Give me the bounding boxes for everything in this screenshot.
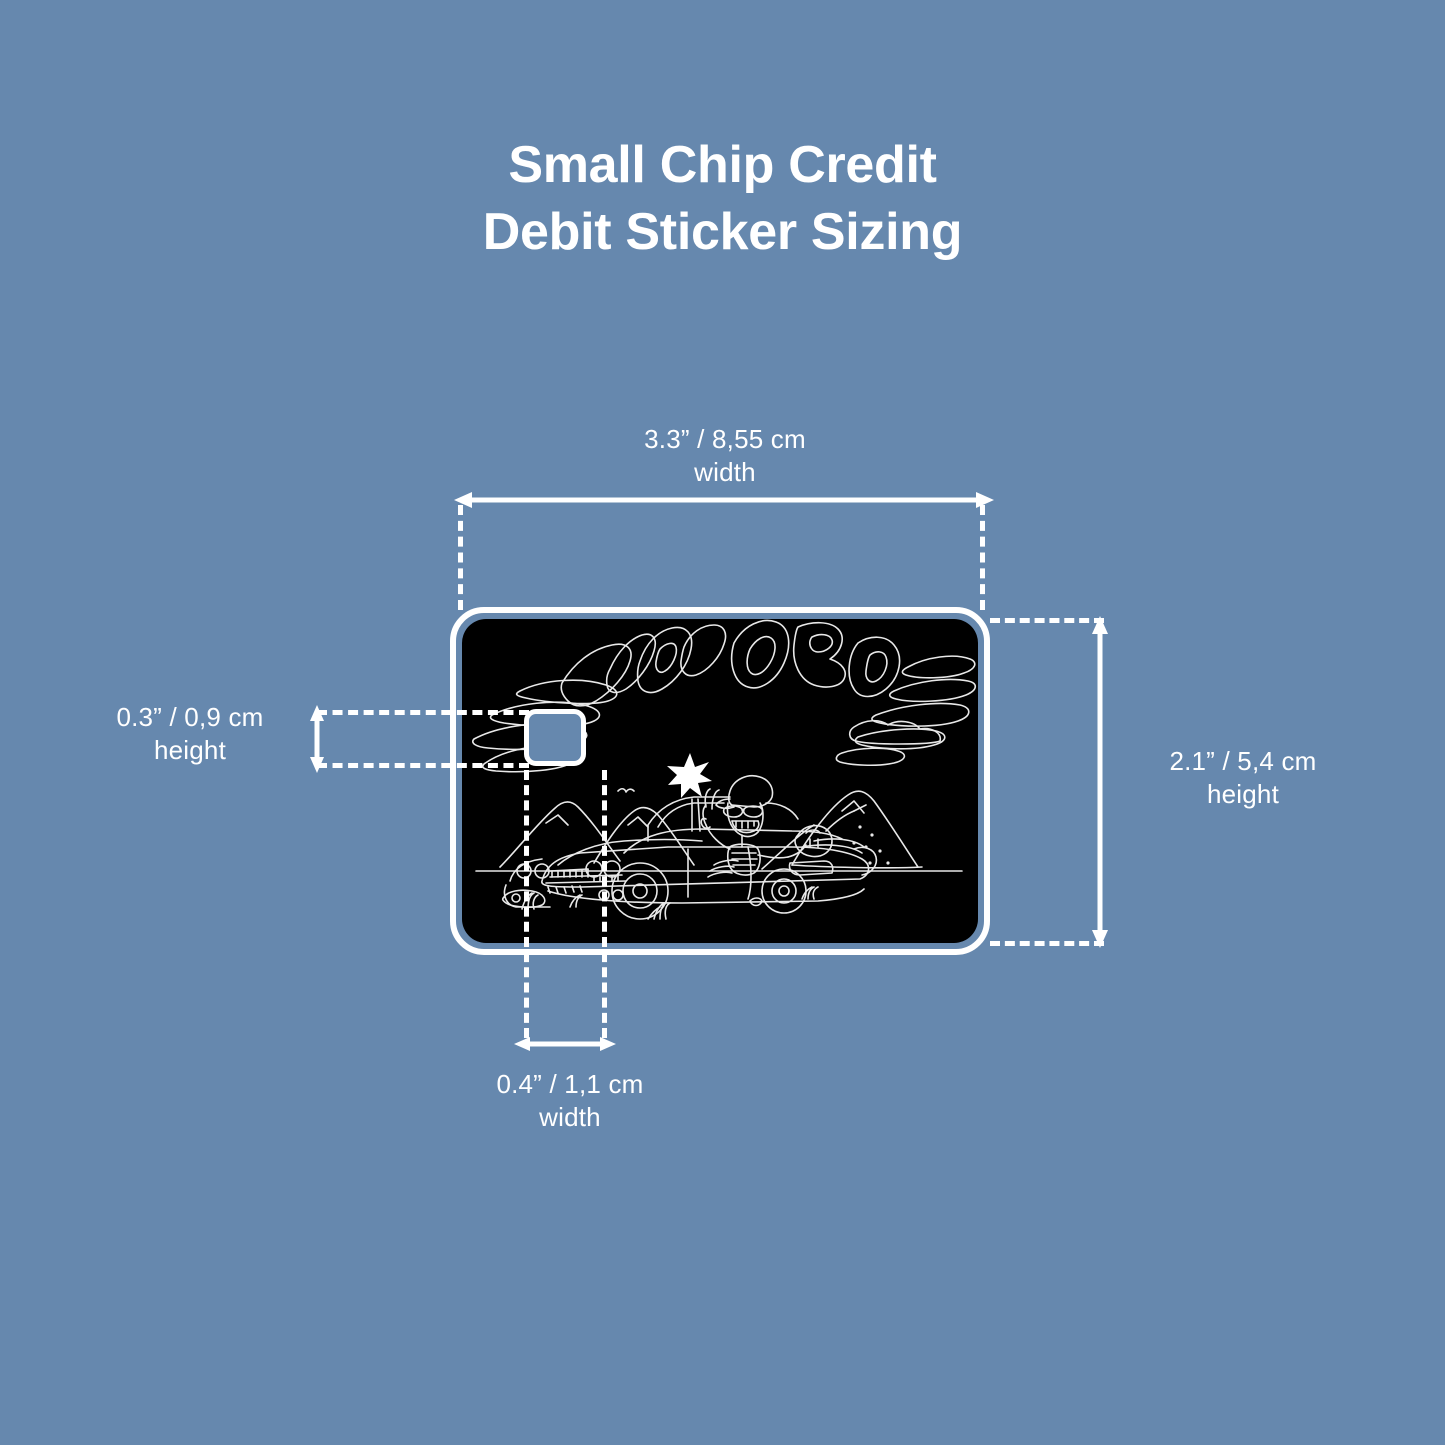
chip-height-label: 0.3” / 0,9 cm height bbox=[70, 701, 310, 767]
chip-cutout bbox=[524, 709, 586, 766]
chip-width-label: 0.4” / 1,1 cm width bbox=[450, 1068, 690, 1134]
extension-line-top-right bbox=[980, 505, 985, 610]
sizing-diagram-canvas: Small Chip Credit Debit Sticker Sizing 3… bbox=[0, 0, 1445, 1445]
card-height-label: 2.1” / 5,4 cm height bbox=[1118, 745, 1368, 811]
extension-line-top-left bbox=[458, 505, 463, 610]
page-title: Small Chip Credit Debit Sticker Sizing bbox=[0, 132, 1445, 265]
card-artwork bbox=[462, 619, 978, 943]
extension-line-chip-bottom bbox=[317, 763, 529, 768]
card-width-label: 3.3” / 8,55 cm width bbox=[575, 423, 875, 489]
card-height-arrow bbox=[1086, 612, 1114, 952]
extension-line-chip-top bbox=[317, 710, 529, 715]
extension-line-chip-right bbox=[602, 770, 607, 1038]
chip-height-arrow bbox=[303, 702, 331, 776]
chip-width-arrow bbox=[510, 1030, 620, 1058]
extension-line-chip-left bbox=[524, 770, 529, 1038]
card-body bbox=[462, 619, 978, 943]
card-width-arrow bbox=[450, 486, 998, 514]
